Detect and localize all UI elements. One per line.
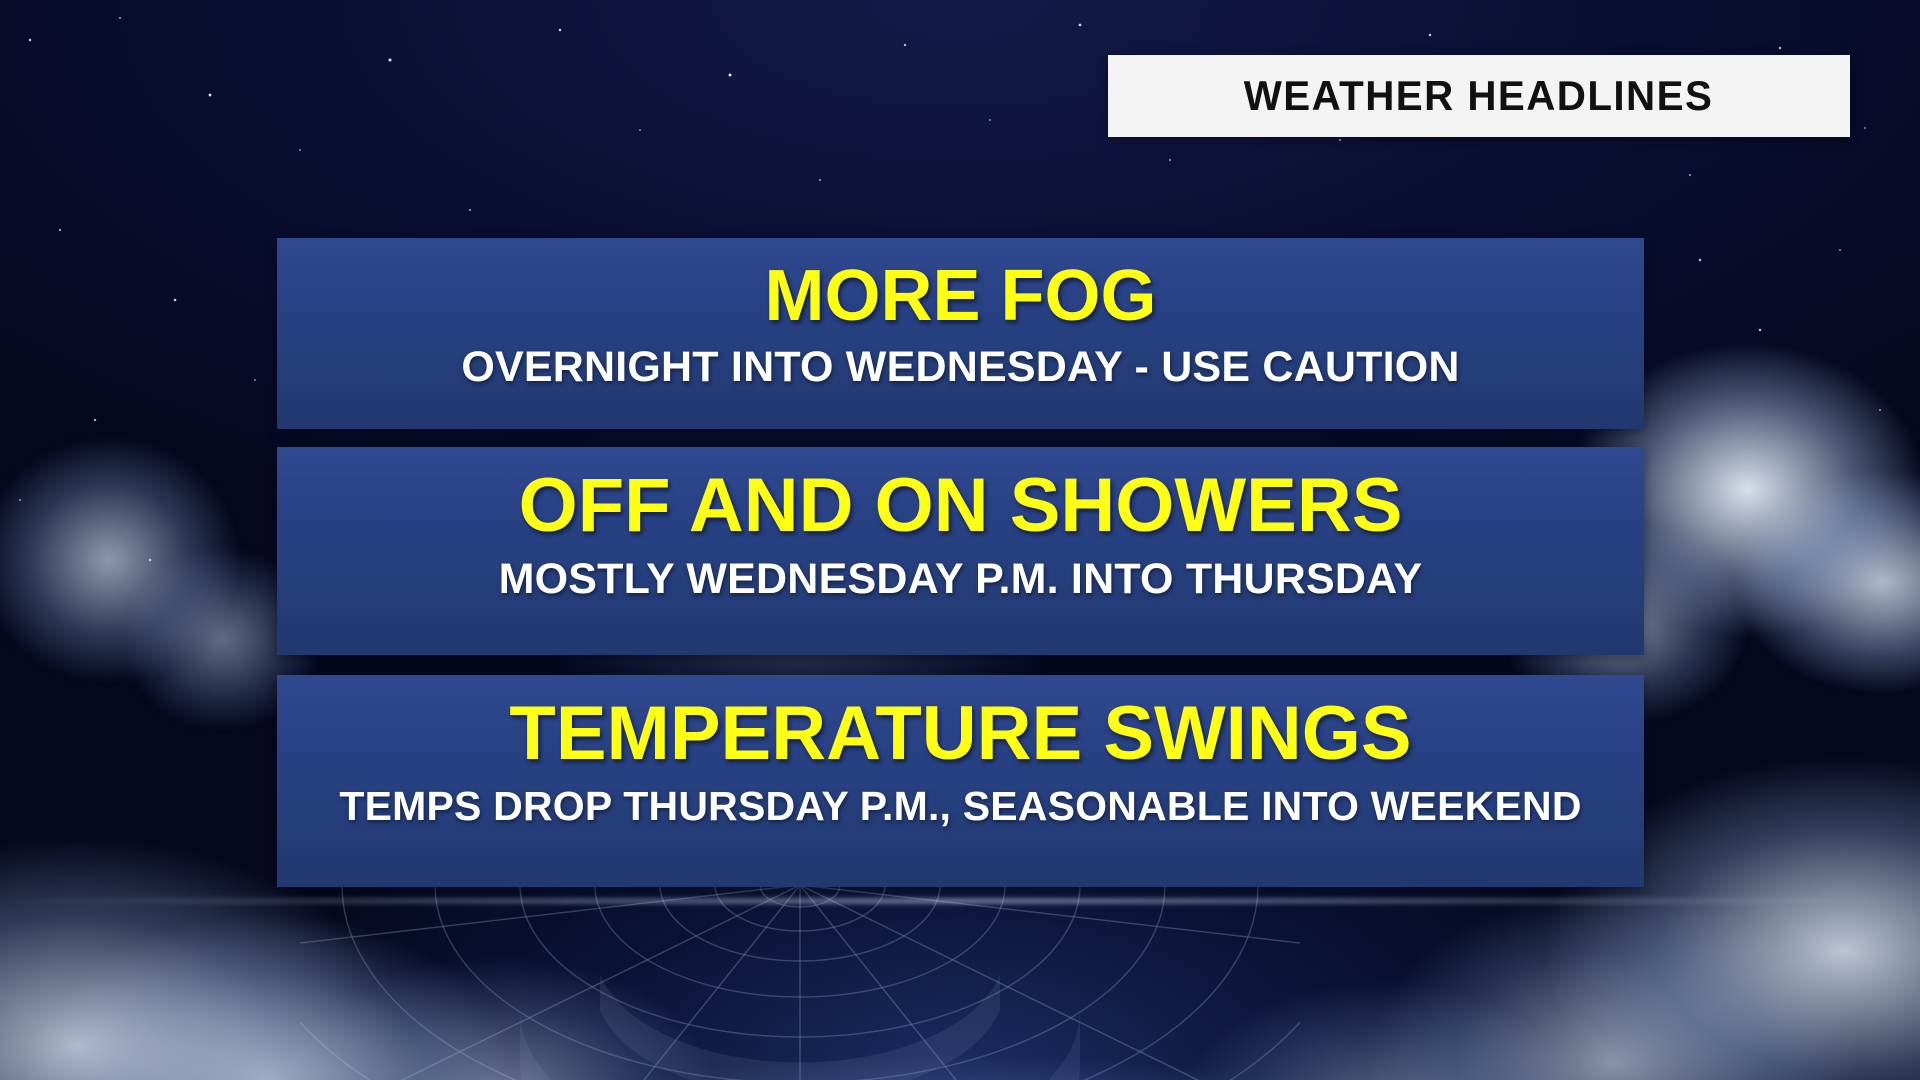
headline-panel-3: TEMPERATURE SWINGS TEMPS DROP THURSDAY P… (277, 675, 1644, 887)
headline-1-title: MORE FOG (277, 248, 1644, 333)
weather-headlines-header-bar: WEATHER HEADLINES (1108, 55, 1850, 137)
headline-panel-list: MORE FOG OVERNIGHT INTO WEDNESDAY - USE … (277, 238, 1644, 887)
horizon-line (0, 898, 1920, 904)
headline-2-title: OFF AND ON SHOWERS (277, 459, 1644, 545)
headline-3-title: TEMPERATURE SWINGS (277, 687, 1644, 773)
headline-1-subtitle: OVERNIGHT INTO WEDNESDAY - USE CAUTION (277, 343, 1644, 392)
headline-panel-1: MORE FOG OVERNIGHT INTO WEDNESDAY - USE … (277, 238, 1644, 429)
headline-panel-2: OFF AND ON SHOWERS MOSTLY WEDNESDAY P.M.… (277, 447, 1644, 655)
page-title: WEATHER HEADLINES (1244, 72, 1714, 120)
weather-graphic-stage: WEATHER HEADLINES MORE FOG OVERNIGHT INT… (0, 0, 1920, 1080)
headline-3-subtitle: TEMPS DROP THURSDAY P.M., SEASONABLE INT… (277, 783, 1644, 830)
headline-2-subtitle: MOSTLY WEDNESDAY P.M. INTO THURSDAY (277, 555, 1644, 604)
